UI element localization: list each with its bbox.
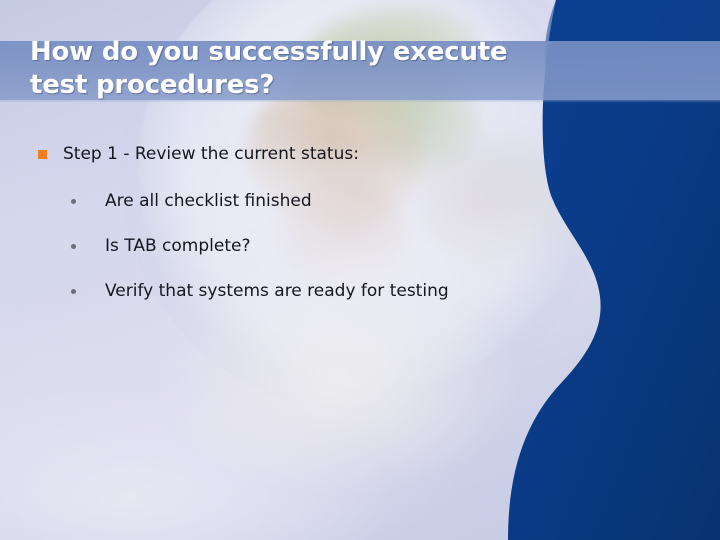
slide-title: How do you successfully execute test pro…: [30, 36, 630, 102]
sub-bullet-list: Are all checklist finished Is TAB comple…: [30, 180, 570, 312]
bullet-level1: Step 1 - Review the current status:: [30, 142, 570, 166]
list-item: Verify that systems are ready for testin…: [30, 270, 570, 312]
sub-bullet-text: Are all checklist finished: [105, 191, 312, 211]
slide-title-line-2: test procedures?: [30, 69, 630, 102]
sub-bullet-text: Verify that systems are ready for testin…: [105, 281, 449, 301]
presentation-slide: How do you successfully execute test pro…: [0, 0, 720, 540]
sub-bullet-text: Is TAB complete?: [105, 236, 250, 256]
slide-title-line-1: How do you successfully execute: [30, 36, 630, 69]
bullet-level1-text: Step 1 - Review the current status:: [63, 144, 359, 164]
dot-bullet-marker: [71, 244, 76, 249]
dot-bullet-marker: [71, 199, 76, 204]
list-item: Are all checklist finished: [30, 180, 570, 222]
dot-bullet-marker: [71, 289, 76, 294]
list-item: Is TAB complete?: [30, 225, 570, 267]
square-bullet-marker: [38, 150, 47, 159]
slide-body: Step 1 - Review the current status: Are …: [30, 142, 570, 315]
